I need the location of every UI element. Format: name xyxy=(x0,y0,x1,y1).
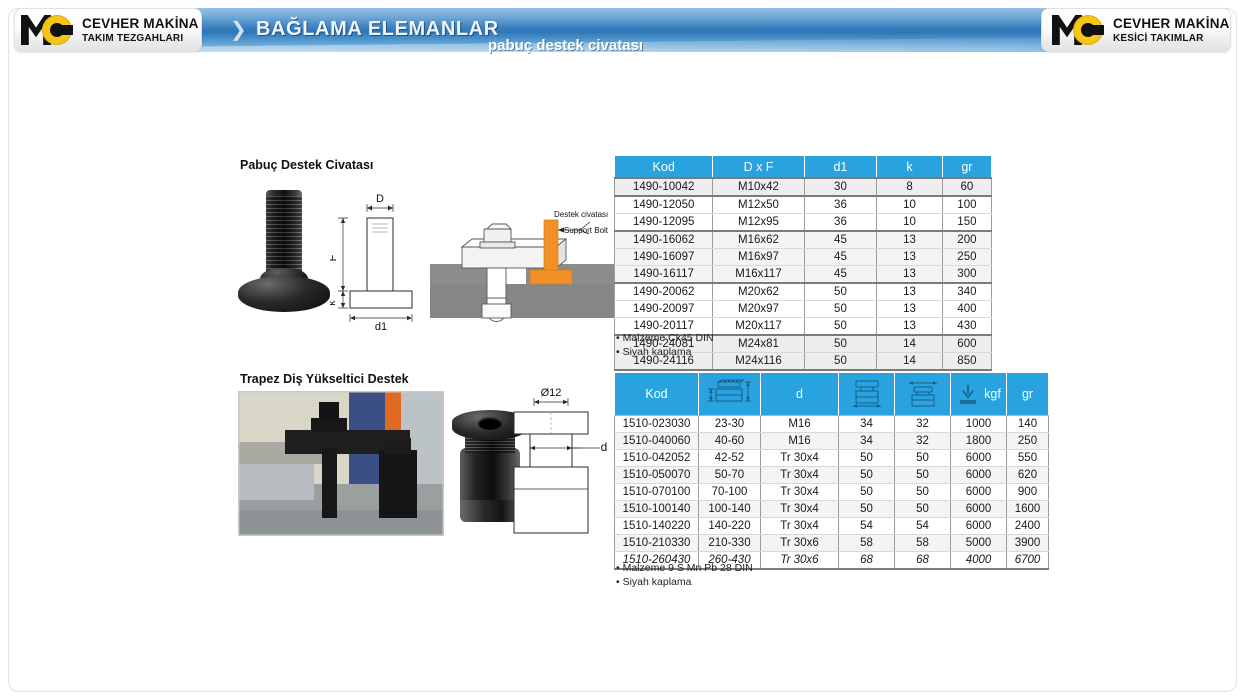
table-row[interactable]: 1510-140220 140-220 Tr 30x4 54 54 6000 2… xyxy=(615,518,1049,535)
cell-d: Tr 30x4 xyxy=(761,518,839,535)
callout-label-tr: Destek civatası xyxy=(554,210,608,219)
cell-dxf: M12x50 xyxy=(713,196,804,214)
cell-c4: 34 xyxy=(839,433,895,450)
cell-c4: 68 xyxy=(839,552,895,570)
chevron-right-icon: ❯ xyxy=(230,20,247,40)
cell-kod: 1510-100140 xyxy=(615,501,699,518)
cell-c4: 58 xyxy=(839,535,895,552)
cell-d1: 30 xyxy=(804,178,877,196)
note-material: Malzeme 9 S Mn Pb 28 DIN xyxy=(616,561,753,575)
cell-k: 10 xyxy=(877,214,943,232)
cell-d: Tr 30x6 xyxy=(761,535,839,552)
table-row[interactable]: 1490-12050 M12x50 36 10 100 xyxy=(615,196,992,214)
cell-c4: 50 xyxy=(839,467,895,484)
cell-gr: 6700 xyxy=(1007,552,1049,570)
section-title-pabuc-destek-civatasi: Pabuç Destek Civatası xyxy=(240,158,373,172)
cell-kod: 1490-10042 xyxy=(615,178,713,196)
logo-right[interactable]: CEVHER MAKİNA KESİCİ TAKIMLAR xyxy=(1041,8,1231,52)
cell-c4: 50 xyxy=(839,501,895,518)
cell-kod: 1490-16117 xyxy=(615,266,713,284)
cell-gr: 60 xyxy=(942,178,991,196)
dimension-label-D: D xyxy=(376,193,384,205)
cell-k: 14 xyxy=(877,353,943,371)
col-header-d1: d1 xyxy=(804,156,877,179)
logo-right-tagline: KESİCİ TAKIMLAR xyxy=(1113,33,1230,45)
col-header-height-range xyxy=(699,373,761,416)
cell-range: 210-330 xyxy=(699,535,761,552)
cell-k: 10 xyxy=(877,196,943,214)
table-row[interactable]: 1510-050070 50-70 Tr 30x4 50 50 6000 620 xyxy=(615,467,1049,484)
col-header-dxf: D x F xyxy=(713,156,804,179)
cell-k: 13 xyxy=(877,283,943,301)
company-logo-icon xyxy=(1052,15,1106,45)
cell-gr: 250 xyxy=(942,249,991,266)
cell-dxf: M20x62 xyxy=(713,283,804,301)
cell-range: 42-52 xyxy=(699,450,761,467)
cell-c5: 50 xyxy=(895,450,951,467)
kgf-label: kgf xyxy=(984,387,1001,401)
cell-gr: 850 xyxy=(942,353,991,371)
cell-c5: 32 xyxy=(895,433,951,450)
cell-d1: 50 xyxy=(804,335,877,353)
cell-gr: 250 xyxy=(1007,433,1049,450)
cell-kgf: 1800 xyxy=(951,433,1007,450)
callout-label-en: Support Bolt xyxy=(564,226,609,235)
body-diameter-icon xyxy=(901,379,945,409)
cell-kod: 1490-20097 xyxy=(615,301,713,318)
cell-kod: 1490-20062 xyxy=(615,283,713,301)
logo-left-name: CEVHER MAKİNA xyxy=(82,16,199,32)
cell-d: M16 xyxy=(761,433,839,450)
table-row[interactable]: 1490-12095 M12x95 36 10 150 xyxy=(615,214,992,232)
notes-section2: Malzeme 9 S Mn Pb 28 DIN Siyah kaplama xyxy=(616,561,753,589)
cell-gr: 1600 xyxy=(1007,501,1049,518)
cell-d1: 36 xyxy=(804,196,877,214)
cell-dxf: M16x97 xyxy=(713,249,804,266)
cell-c5: 68 xyxy=(895,552,951,570)
cell-range: 140-220 xyxy=(699,518,761,535)
notes-section1: Malzeme Ck45 DIN Siyah kaplama xyxy=(616,331,714,359)
technical-drawing-riser: Ø12 d xyxy=(500,388,610,538)
col-header-gr: gr xyxy=(942,156,991,179)
cell-d1: 50 xyxy=(804,283,877,301)
catalog-page: ❯ BAĞLAMA ELEMANLAR pabuç destek civatas… xyxy=(0,0,1245,700)
cell-kod: 1490-12050 xyxy=(615,196,713,214)
logo-left[interactable]: CEVHER MAKİNA TAKIM TEZGAHLARI xyxy=(14,8,202,52)
cell-gr: 900 xyxy=(1007,484,1049,501)
cell-kod: 1490-12095 xyxy=(615,214,713,232)
application-diagram-support-bolt: Destek civatası Support Bolt xyxy=(430,200,615,325)
cell-kod: 1510-140220 xyxy=(615,518,699,535)
dimension-label-diameter: Ø12 xyxy=(541,388,562,399)
cell-kgf: 6000 xyxy=(951,518,1007,535)
cell-d1: 45 xyxy=(804,231,877,249)
cell-k: 13 xyxy=(877,266,943,284)
product-photo-support-bolt xyxy=(236,190,331,325)
cell-gr: 140 xyxy=(1007,416,1049,433)
load-capacity-icon xyxy=(956,382,980,406)
table-header-row: Kod D x F d1 k gr xyxy=(615,156,992,179)
cell-gr: 550 xyxy=(1007,450,1049,467)
cell-d: Tr 30x4 xyxy=(761,467,839,484)
cell-k: 13 xyxy=(877,301,943,318)
top-diameter-icon xyxy=(845,379,889,409)
cell-c4: 50 xyxy=(839,484,895,501)
cell-kod: 1510-040060 xyxy=(615,433,699,450)
cell-dxf: M24x116 xyxy=(713,353,804,371)
col-header-kgf: kgf xyxy=(951,373,1007,416)
cell-c4: 50 xyxy=(839,450,895,467)
table-header-row: Kod xyxy=(615,373,1049,416)
cell-gr: 400 xyxy=(942,301,991,318)
header-subtitle: pabuç destek civatası xyxy=(488,37,643,54)
cell-d: M16 xyxy=(761,416,839,433)
cell-range: 50-70 xyxy=(699,467,761,484)
cell-c5: 50 xyxy=(895,501,951,518)
table-row[interactable]: 1510-023030 23-30 M16 34 32 1000 140 xyxy=(615,416,1049,433)
cell-d1: 45 xyxy=(804,249,877,266)
cell-k: 14 xyxy=(877,335,943,353)
cell-d1: 50 xyxy=(804,318,877,336)
cell-k: 13 xyxy=(877,318,943,336)
table-row[interactable]: 1510-040060 40-60 M16 34 32 1800 250 xyxy=(615,433,1049,450)
col-header-d: d xyxy=(761,373,839,416)
cell-d1: 50 xyxy=(804,353,877,371)
cell-c5: 50 xyxy=(895,484,951,501)
table-row[interactable]: 1490-10042 M10x42 30 8 60 xyxy=(615,178,992,196)
cell-gr: 600 xyxy=(942,335,991,353)
col-header-kod: Kod xyxy=(615,156,713,179)
cell-dxf: M24x81 xyxy=(713,335,804,353)
cell-kod: 1510-023030 xyxy=(615,416,699,433)
cell-c4: 34 xyxy=(839,416,895,433)
dimension-label-d1: d1 xyxy=(375,321,387,330)
cell-d: Tr 30x6 xyxy=(761,552,839,570)
cell-dxf: M20x117 xyxy=(713,318,804,336)
dimension-label-k: k xyxy=(330,300,338,306)
cell-gr: 3900 xyxy=(1007,535,1049,552)
cell-gr: 150 xyxy=(942,214,991,232)
note-coating: Siyah kaplama xyxy=(616,345,714,359)
cell-range: 23-30 xyxy=(699,416,761,433)
dimension-label-d: d xyxy=(601,440,608,454)
cell-kgf: 5000 xyxy=(951,535,1007,552)
table-row[interactable]: 1510-042052 42-52 Tr 30x4 50 50 6000 550 xyxy=(615,450,1049,467)
cell-gr: 200 xyxy=(942,231,991,249)
table-row[interactable]: 1510-070100 70-100 Tr 30x4 50 50 6000 90… xyxy=(615,484,1049,501)
cell-d: Tr 30x4 xyxy=(761,484,839,501)
cell-dxf: M16x117 xyxy=(713,266,804,284)
table-row[interactable]: 1510-210330 210-330 Tr 30x6 58 58 5000 3… xyxy=(615,535,1049,552)
table-row[interactable]: 1490-16117 M16x117 45 13 300 xyxy=(615,266,992,284)
cell-k: 13 xyxy=(877,231,943,249)
logo-right-name: CEVHER MAKİNA xyxy=(1113,16,1230,32)
note-coating: Siyah kaplama xyxy=(616,575,753,589)
cell-c5: 50 xyxy=(895,467,951,484)
cell-gr: 430 xyxy=(942,318,991,336)
table-trapez-dis-yukseltici-destek: Kod xyxy=(614,372,1049,570)
cell-d1: 36 xyxy=(804,214,877,232)
cell-dxf: M12x95 xyxy=(713,214,804,232)
product-photo-riser-in-use xyxy=(238,391,444,536)
cell-d: Tr 30x4 xyxy=(761,450,839,467)
cell-range: 70-100 xyxy=(699,484,761,501)
col-header-kod: Kod xyxy=(615,373,699,416)
technical-drawing-support-bolt: D F k d1 xyxy=(330,190,440,330)
cell-c5: 58 xyxy=(895,535,951,552)
col-header-k: k xyxy=(877,156,943,179)
cell-kod: 1510-210330 xyxy=(615,535,699,552)
table-row[interactable]: 1490-20097 M20x97 50 13 400 xyxy=(615,301,992,318)
cell-dxf: M20x97 xyxy=(713,301,804,318)
logo-left-tagline: TAKIM TEZGAHLARI xyxy=(82,33,199,45)
cell-kod: 1510-042052 xyxy=(615,450,699,467)
cell-kgf: 1000 xyxy=(951,416,1007,433)
table-row[interactable]: 1510-100140 100-140 Tr 30x4 50 50 6000 1… xyxy=(615,501,1049,518)
cell-c4: 54 xyxy=(839,518,895,535)
dimension-label-F: F xyxy=(330,254,339,261)
cell-kgf: 6000 xyxy=(951,484,1007,501)
cell-gr: 2400 xyxy=(1007,518,1049,535)
cell-kod: 1490-16097 xyxy=(615,249,713,266)
table-row[interactable]: 1490-20062 M20x62 50 13 340 xyxy=(615,283,992,301)
col-header-gr: gr xyxy=(1007,373,1049,416)
cell-kgf: 6000 xyxy=(951,450,1007,467)
note-material: Malzeme Ck45 DIN xyxy=(616,331,714,345)
cell-dxf: M16x62 xyxy=(713,231,804,249)
cell-d1: 45 xyxy=(804,266,877,284)
cell-gr: 620 xyxy=(1007,467,1049,484)
cell-kgf: 6000 xyxy=(951,467,1007,484)
cell-range: 40-60 xyxy=(699,433,761,450)
cell-kod: 1510-070100 xyxy=(615,484,699,501)
cell-c5: 54 xyxy=(895,518,951,535)
table-row[interactable]: 1490-16062 M16x62 45 13 200 xyxy=(615,231,992,249)
cell-kgf: 4000 xyxy=(951,552,1007,570)
section-title-trapez-dis-yukseltici-destek: Trapez Diş Yükseltici Destek xyxy=(240,372,409,386)
col-header-top-diameter xyxy=(839,373,895,416)
cell-gr: 340 xyxy=(942,283,991,301)
header-title: BAĞLAMA ELEMANLAR xyxy=(256,18,499,41)
cell-d: Tr 30x4 xyxy=(761,501,839,518)
company-logo-icon xyxy=(21,15,75,45)
cell-kgf: 6000 xyxy=(951,501,1007,518)
cell-gr: 100 xyxy=(942,196,991,214)
cell-kod: 1490-16062 xyxy=(615,231,713,249)
cell-dxf: M10x42 xyxy=(713,178,804,196)
page-header: ❯ BAĞLAMA ELEMANLAR pabuç destek civatas… xyxy=(8,6,1237,54)
cell-c5: 32 xyxy=(895,416,951,433)
col-header-body-diameter xyxy=(895,373,951,416)
cell-d1: 50 xyxy=(804,301,877,318)
table-row[interactable]: 1490-16097 M16x97 45 13 250 xyxy=(615,249,992,266)
cell-k: 13 xyxy=(877,249,943,266)
cell-range: 100-140 xyxy=(699,501,761,518)
height-range-icon xyxy=(704,379,756,409)
cell-k: 8 xyxy=(877,178,943,196)
cell-gr: 300 xyxy=(942,266,991,284)
cell-kod: 1510-050070 xyxy=(615,467,699,484)
